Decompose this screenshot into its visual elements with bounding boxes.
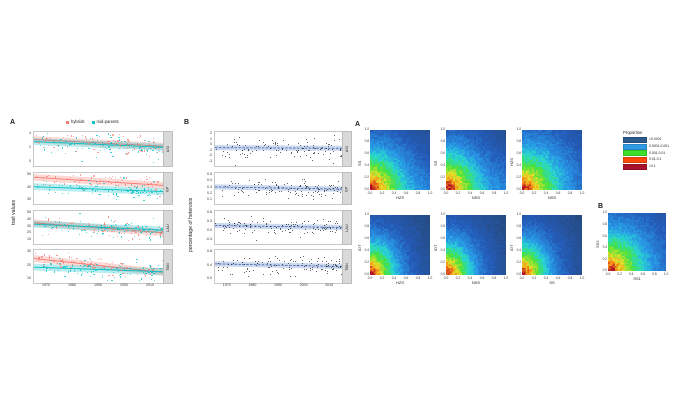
panel-a-data-point bbox=[80, 174, 81, 175]
panel-c-heatmap-y-tick: 0.0 bbox=[361, 273, 369, 276]
panel-d-heatmap-x-tick: 1.0 bbox=[662, 273, 670, 276]
panel-b-data-point bbox=[291, 268, 292, 269]
panel-a-data-point bbox=[81, 230, 82, 231]
panel-d-heatmap-image-0 bbox=[608, 213, 666, 271]
panel-b-data-point bbox=[215, 223, 216, 224]
panel-a-data-point bbox=[86, 189, 87, 190]
panel-a-data-point bbox=[140, 192, 141, 193]
panel-b-data-point bbox=[291, 225, 292, 226]
panel-a-data-point bbox=[127, 227, 128, 228]
panel-a-data-point bbox=[70, 267, 71, 268]
panel-a-data-point bbox=[120, 266, 121, 267]
panel-a-strip-tbn: TBN bbox=[163, 249, 173, 284]
panel-a-data-point bbox=[88, 180, 89, 181]
panel-a-data-point bbox=[89, 265, 90, 266]
panel-c-heatmap-y-tick: 0.0 bbox=[513, 188, 521, 191]
panel-a-data-point bbox=[46, 266, 47, 267]
panel-b-data-point bbox=[335, 223, 336, 224]
panel-a-data-point bbox=[62, 267, 63, 268]
proportion-color-legend: Proportion <0.00010.0001-0.0010.001-0.01… bbox=[623, 131, 669, 171]
panel-b-data-point bbox=[273, 143, 274, 144]
panel-b-data-point bbox=[239, 226, 240, 227]
panel-a-data-point bbox=[100, 144, 101, 145]
panel-b-data-point bbox=[290, 232, 291, 233]
panel-a-y-tick: 30 bbox=[17, 225, 31, 229]
heatmap-canvas bbox=[608, 213, 666, 271]
panel-b-data-point bbox=[334, 140, 335, 141]
panel-a-data-point bbox=[93, 149, 94, 150]
panel-b-data-point bbox=[276, 270, 277, 271]
panel-a-data-point bbox=[73, 226, 74, 227]
panel-c-heatmap-x-tick: 0.2 bbox=[378, 277, 386, 280]
panel-a-facet-lau bbox=[33, 210, 165, 245]
panel-b-trend bbox=[215, 132, 343, 166]
panel-c-heatmap-x-tick: 0.8 bbox=[566, 277, 574, 280]
panel-b-data-point bbox=[304, 269, 305, 270]
panel-letter-a: A bbox=[10, 119, 15, 126]
panel-a-data-point bbox=[43, 266, 44, 267]
panel-b-data-point bbox=[235, 165, 236, 166]
panel-a-data-point bbox=[99, 136, 100, 137]
panel-b-y-tick: 0.1 bbox=[199, 198, 212, 202]
panel-c-heatmap-y-tick: 0.4 bbox=[361, 249, 369, 252]
panel-c-heatmap-x-tick: 0.0 bbox=[518, 277, 526, 280]
panel-b-data-point bbox=[250, 224, 251, 225]
panel-b-data-point bbox=[228, 220, 229, 221]
color-legend-label: 0.001-0.01 bbox=[649, 152, 665, 155]
panel-a-data-point bbox=[124, 233, 125, 234]
strip-label: ASI bbox=[345, 146, 349, 152]
panel-a-data-point bbox=[96, 225, 97, 226]
panel-b-data-point bbox=[297, 189, 298, 190]
panel-a-data-point bbox=[45, 140, 46, 141]
panel-a-data-point bbox=[159, 268, 160, 269]
panel-c-heatmap-ylabel-1: SS bbox=[434, 161, 438, 166]
panel-b-facet-asi bbox=[214, 131, 344, 167]
panel-a-legend: hybrids mid-parents bbox=[66, 120, 119, 124]
panel-b-data-point bbox=[266, 192, 267, 193]
panel-a-data-point bbox=[112, 134, 113, 135]
panel-b-data-point bbox=[289, 269, 290, 270]
panel-b-data-point bbox=[248, 150, 249, 151]
panel-a-data-point bbox=[132, 231, 133, 232]
panel-a-data-point bbox=[84, 189, 85, 190]
panel-d-heatmap-y-tick: 0.6 bbox=[599, 235, 607, 238]
panel-a-data-point bbox=[134, 269, 135, 270]
panel-a-data-point bbox=[97, 184, 98, 185]
panel-c-heatmap-x-tick: 1.0 bbox=[502, 192, 510, 195]
panel-a-y-tick: 4 bbox=[17, 132, 31, 136]
panel-c-heatmap-y-tick: 0.2 bbox=[437, 176, 445, 179]
panel-c-heatmap-x-tick: 0.2 bbox=[530, 192, 538, 195]
heatmap-canvas bbox=[522, 215, 582, 275]
panel-c-heatmap-ylabel-0: SS bbox=[358, 161, 362, 166]
panel-a-data-point bbox=[102, 227, 103, 228]
panel-c-heatmap-x-tick: 0.0 bbox=[518, 192, 526, 195]
panel-b-y-tick: -1 bbox=[199, 149, 212, 153]
panel-a-data-point bbox=[102, 186, 103, 187]
panel-c-heatmap-y-tick: 0.6 bbox=[361, 152, 369, 155]
panel-a-data-point bbox=[105, 177, 106, 178]
panel-a-data-point bbox=[121, 236, 122, 237]
panel-a-data-point bbox=[126, 230, 127, 231]
panel-letter-b: B bbox=[184, 119, 189, 126]
panel-a-data-point bbox=[64, 183, 65, 184]
panel-b-data-point bbox=[228, 264, 229, 265]
panel-a-data-point bbox=[81, 261, 82, 262]
panel-c-heatmap-y-tick: 0.8 bbox=[361, 140, 369, 143]
color-legend-title: Proportion bbox=[623, 131, 669, 135]
panel-c-heatmap-image-0 bbox=[370, 130, 430, 190]
panel-b-y-tick: 2 bbox=[199, 132, 212, 136]
panel-c-heatmap-y-tick: 0.4 bbox=[437, 249, 445, 252]
panel-c-heatmap-y-tick: 0.0 bbox=[361, 188, 369, 191]
panel-b-data-point bbox=[323, 230, 324, 231]
panel-a-data-point bbox=[127, 190, 128, 191]
panel-b-data-point bbox=[257, 222, 258, 223]
panel-a-data-point bbox=[49, 257, 50, 258]
panel-c-heatmap-y-tick: 0.8 bbox=[437, 140, 445, 143]
panel-c-heatmap-x-tick: 0.2 bbox=[530, 277, 538, 280]
panel-a-y-tick: 20 bbox=[17, 231, 31, 235]
panel-a-data-point bbox=[48, 218, 49, 219]
panel-a-y-tick: 50 bbox=[17, 173, 31, 177]
color-legend-rows: <0.00010.0001-0.0010.001-0.010.01-0.1>0.… bbox=[623, 137, 669, 170]
panel-b-data-point bbox=[259, 182, 260, 183]
panel-b-y-tick: -0.3 bbox=[199, 238, 212, 242]
panel-c-heatmap-ylabel-5: IDT bbox=[510, 245, 514, 251]
panel-c-heatmap-x-tick: 1.0 bbox=[578, 192, 586, 195]
panel-b-data-point bbox=[338, 189, 339, 190]
panel-c-heatmap-xlabel-1: NSS bbox=[470, 196, 482, 200]
panel-a-y-tick: 2 bbox=[17, 146, 31, 150]
panel-a-data-point bbox=[150, 228, 151, 229]
legend-label-hybrids: hybrids bbox=[71, 120, 85, 124]
panel-c-heatmap-y-tick: 0.2 bbox=[361, 261, 369, 264]
panel-b-data-point bbox=[283, 140, 284, 141]
color-legend-entry-3: 0.01-0.1 bbox=[623, 157, 669, 163]
panel-a-data-point bbox=[65, 141, 66, 142]
color-legend-swatch bbox=[623, 164, 647, 170]
panel-a-data-point bbox=[160, 236, 161, 237]
panel-b-data-point bbox=[313, 147, 314, 148]
panel-b-data-point bbox=[262, 262, 263, 263]
panel-b-data-point bbox=[331, 267, 332, 268]
panel-a-data-point bbox=[59, 141, 60, 142]
panel-a-data-point bbox=[113, 222, 114, 223]
panel-b-data-point bbox=[238, 189, 239, 190]
panel-b-y-tick: 0.4 bbox=[199, 179, 212, 183]
panel-a-data-point bbox=[151, 189, 152, 190]
panel-b-y-tick: -2 bbox=[199, 154, 212, 158]
panel-a-data-point bbox=[46, 270, 47, 271]
panel-a-data-point bbox=[138, 151, 139, 152]
panel-a-data-point bbox=[53, 147, 54, 148]
panel-a-data-point bbox=[44, 149, 45, 150]
panel-b-data-point bbox=[333, 163, 334, 164]
panel-a-data-point bbox=[37, 187, 38, 188]
panel-a-data-point bbox=[71, 261, 72, 262]
panel-b-data-point bbox=[304, 221, 305, 222]
panel-b-data-point bbox=[276, 227, 277, 228]
panel-a-data-point bbox=[65, 145, 66, 146]
panel-a-facet-tbn bbox=[33, 249, 165, 284]
panel-b-data-point bbox=[223, 151, 224, 152]
panel-b-y-axis-title: percentage of heterosis bbox=[189, 198, 194, 252]
panel-a-data-point bbox=[67, 224, 68, 225]
panel-b-x-tick: 2010 bbox=[320, 284, 338, 288]
panel-b-data-point bbox=[333, 269, 334, 270]
panel-c-heatmap-y-tick: 0.8 bbox=[513, 225, 521, 228]
panel-b-data-point bbox=[333, 264, 334, 265]
panel-letter-c: A bbox=[355, 121, 360, 128]
panel-c-heatmap-ylabel-3: IDT bbox=[358, 245, 362, 251]
panel-b-y-tick: 0.0 bbox=[199, 277, 212, 281]
panel-a-data-point bbox=[99, 194, 100, 195]
panel-a-x-tick: 2000 bbox=[115, 284, 133, 288]
panel-d-heatmap-y-tick: 1.0 bbox=[599, 211, 607, 214]
panel-c-heatmap-y-tick: 0.6 bbox=[437, 152, 445, 155]
panel-a-data-point bbox=[86, 144, 87, 145]
panel-b-strip-lau: LAU bbox=[342, 210, 352, 245]
panel-b-y-tick: 0.6 bbox=[199, 211, 212, 215]
color-legend-swatch bbox=[623, 157, 647, 163]
panel-b-data-point bbox=[315, 229, 316, 230]
panel-b-data-point bbox=[229, 154, 230, 155]
panel-a-data-point bbox=[146, 176, 147, 177]
panel-a-data-point bbox=[155, 184, 156, 185]
heatmap-canvas bbox=[522, 130, 582, 190]
panel-b-data-point bbox=[254, 230, 255, 231]
color-legend-label: 0.01-0.1 bbox=[649, 158, 661, 161]
panel-a-data-point bbox=[150, 183, 151, 184]
panel-c-heatmap-y-tick: 0.6 bbox=[513, 152, 521, 155]
panel-c-heatmap-x-tick: 0.6 bbox=[554, 277, 562, 280]
panel-a-data-point bbox=[44, 226, 45, 227]
strip-label: LAU bbox=[345, 224, 349, 232]
panel-b-y-tick: 0 bbox=[199, 143, 212, 147]
panel-b-x-tick: 1990 bbox=[269, 284, 287, 288]
color-legend-entry-1: 0.0001-0.001 bbox=[623, 144, 669, 150]
panel-b-data-point bbox=[293, 224, 294, 225]
panel-b-data-point bbox=[328, 146, 329, 147]
panel-a-y-tick: 10 bbox=[17, 238, 31, 242]
panel-a-strip-lau: LAU bbox=[163, 210, 173, 245]
panel-a-data-point bbox=[126, 177, 127, 178]
panel-a-data-point bbox=[64, 276, 65, 277]
legend-swatch-midparents bbox=[92, 121, 95, 124]
legend-key-midparents: mid-parents bbox=[92, 120, 119, 124]
panel-c-heatmap-y-tick: 1.0 bbox=[513, 213, 521, 216]
panel-c-heatmap-x-tick: 0.2 bbox=[454, 192, 462, 195]
heatmap-canvas bbox=[370, 130, 430, 190]
panel-d-heatmap-x-tick: 0.2 bbox=[616, 273, 624, 276]
panel-b-x-tick: 1980 bbox=[243, 284, 261, 288]
figure-canvas: A hybrids mid-parents trait values ASI42… bbox=[0, 0, 680, 400]
panel-b-data-point bbox=[265, 188, 266, 189]
panel-a-data-point bbox=[127, 273, 128, 274]
panel-b-data-point bbox=[317, 187, 318, 188]
panel-b-data-point bbox=[249, 180, 250, 181]
panel-a-data-point bbox=[143, 272, 144, 273]
panel-b-data-point bbox=[244, 233, 245, 234]
panel-a-data-point bbox=[51, 152, 52, 153]
panel-a-data-point bbox=[112, 267, 113, 268]
strip-label: EP bbox=[345, 186, 349, 191]
panel-c-heatmap-y-tick: 0.6 bbox=[513, 237, 521, 240]
panel-a-x-tick: 1980 bbox=[63, 284, 81, 288]
panel-a-data-point bbox=[129, 147, 130, 148]
panel-a-data-point bbox=[132, 150, 133, 151]
panel-a-data-point bbox=[78, 226, 79, 227]
panel-b-data-point bbox=[317, 267, 318, 268]
panel-b-y-tick: 0.3 bbox=[199, 220, 212, 224]
panel-b-data-point bbox=[266, 194, 267, 195]
panel-a-data-point bbox=[60, 139, 61, 140]
panel-a-data-point bbox=[129, 268, 130, 269]
panel-a-data-point bbox=[136, 187, 137, 188]
panel-b-data-point bbox=[227, 152, 228, 153]
panel-a-data-point bbox=[97, 233, 98, 234]
panel-a-data-point bbox=[88, 225, 89, 226]
panel-a-data-point bbox=[142, 185, 143, 186]
panel-d-heatmap-x-tick: 0.8 bbox=[650, 273, 658, 276]
panel-a-data-point bbox=[145, 275, 146, 276]
panel-b-y-tick: 0.4 bbox=[199, 264, 212, 268]
panel-b-data-point bbox=[223, 226, 224, 227]
panel-d-heatmap-y-tick: 0.4 bbox=[599, 246, 607, 249]
panel-b-data-point bbox=[216, 149, 217, 150]
panel-c-heatmap-xlabel-5: SS bbox=[546, 281, 558, 285]
panel-a-data-point bbox=[160, 270, 161, 271]
panel-b-data-point bbox=[297, 152, 298, 153]
panel-a-data-point bbox=[112, 176, 113, 177]
strip-label: LAU bbox=[166, 224, 170, 232]
panel-b-facet-tbn bbox=[214, 249, 344, 284]
panel-c-heatmap-y-tick: 1.0 bbox=[437, 128, 445, 131]
panel-a-data-point bbox=[104, 189, 105, 190]
panel-b-facet-ep bbox=[214, 172, 344, 205]
panel-c-heatmap-image-1 bbox=[446, 130, 506, 190]
panel-c-heatmap-x-tick: 0.8 bbox=[490, 192, 498, 195]
strip-label: TBN bbox=[166, 263, 170, 271]
panel-a-data-point bbox=[80, 221, 81, 222]
panel-c-heatmap-x-tick: 1.0 bbox=[426, 192, 434, 195]
panel-a-data-point bbox=[78, 180, 79, 181]
panel-a-data-point bbox=[91, 269, 92, 270]
panel-a-data-point bbox=[50, 263, 51, 264]
panel-b-data-point bbox=[242, 262, 243, 263]
panel-a-data-point bbox=[93, 267, 94, 268]
panel-a-data-point bbox=[68, 226, 69, 227]
panel-a-data-point bbox=[108, 275, 109, 276]
color-legend-entry-2: 0.001-0.01 bbox=[623, 150, 669, 156]
panel-c-heatmap-ylabel-4: IDT bbox=[434, 245, 438, 251]
panel-a-data-point bbox=[148, 269, 149, 270]
panel-b-data-point bbox=[290, 228, 291, 229]
panel-a-data-point bbox=[112, 156, 113, 157]
panel-a-data-point bbox=[119, 182, 120, 183]
panel-a-data-point bbox=[67, 141, 68, 142]
panel-a-data-point bbox=[100, 150, 101, 151]
panel-a-data-point bbox=[122, 180, 123, 181]
panel-c-heatmap-x-tick: 0.2 bbox=[378, 192, 386, 195]
panel-a-data-point bbox=[66, 266, 67, 267]
panel-a-data-point bbox=[41, 256, 42, 257]
panel-a-data-point bbox=[49, 189, 50, 190]
panel-a-data-point bbox=[128, 141, 129, 142]
panel-b-data-point bbox=[239, 145, 240, 146]
panel-b-data-point bbox=[306, 155, 307, 156]
panel-a-data-point bbox=[106, 148, 107, 149]
panel-b-data-point bbox=[232, 183, 233, 184]
panel-a-data-point bbox=[110, 137, 111, 138]
panel-a-data-point bbox=[117, 228, 118, 229]
panel-b-facet-lau bbox=[214, 210, 344, 245]
strip-label: TBN bbox=[345, 263, 349, 271]
panel-c-heatmap-y-tick: 0.6 bbox=[437, 237, 445, 240]
panel-b-data-point bbox=[339, 263, 340, 264]
panel-b-data-point bbox=[340, 192, 341, 193]
panel-a-data-point bbox=[123, 177, 124, 178]
panel-b-data-point bbox=[296, 222, 297, 223]
panel-a-data-point bbox=[53, 261, 54, 262]
panel-c-heatmap-ylabel-2: HZS bbox=[510, 158, 514, 166]
panel-a-data-point bbox=[111, 280, 112, 281]
panel-a-data-point bbox=[111, 225, 112, 226]
heatmap-canvas bbox=[446, 130, 506, 190]
panel-b-data-point bbox=[295, 276, 296, 277]
panel-a-data-point bbox=[116, 225, 117, 226]
panel-b-data-point bbox=[283, 187, 284, 188]
panel-a-data-point bbox=[151, 268, 152, 269]
panel-b-data-point bbox=[313, 228, 314, 229]
panel-b-data-point bbox=[333, 151, 334, 152]
panel-a-x-tick: 1970 bbox=[37, 284, 55, 288]
panel-a-data-point bbox=[108, 146, 109, 147]
panel-a-data-point bbox=[49, 185, 50, 186]
panel-b-data-point bbox=[278, 187, 279, 188]
panel-b-y-tick: 0.5 bbox=[199, 173, 212, 177]
panel-a-data-point bbox=[103, 233, 104, 234]
panel-b-data-point bbox=[218, 270, 219, 271]
color-legend-entry-0: <0.0001 bbox=[623, 137, 669, 143]
panel-a-data-point bbox=[64, 224, 65, 225]
panel-a-data-point bbox=[160, 190, 161, 191]
panel-a-data-point bbox=[149, 177, 150, 178]
panel-c-heatmap-y-tick: 1.0 bbox=[513, 128, 521, 131]
panel-b-data-point bbox=[278, 188, 279, 189]
panel-a-data-point bbox=[125, 224, 126, 225]
panel-c-heatmap-x-tick: 0.8 bbox=[414, 192, 422, 195]
panel-a-data-point bbox=[142, 226, 143, 227]
panel-a-data-point bbox=[153, 138, 154, 139]
panel-a-data-point bbox=[120, 177, 121, 178]
panel-a-data-point bbox=[59, 263, 60, 264]
panel-c-heatmap-y-tick: 0.0 bbox=[437, 273, 445, 276]
panel-a-data-point bbox=[145, 273, 146, 274]
panel-b-data-point bbox=[229, 227, 230, 228]
panel-a-data-point bbox=[118, 137, 119, 138]
panel-c-heatmap-x-tick: 1.0 bbox=[426, 277, 434, 280]
panel-a-data-point bbox=[70, 185, 71, 186]
heatmap-canvas bbox=[446, 215, 506, 275]
panel-b-data-point bbox=[291, 222, 292, 223]
panel-b-data-point bbox=[336, 266, 337, 267]
panel-c-heatmap-y-tick: 0.4 bbox=[513, 164, 521, 167]
panel-a-data-point bbox=[102, 277, 103, 278]
panel-a-data-point bbox=[82, 148, 83, 149]
